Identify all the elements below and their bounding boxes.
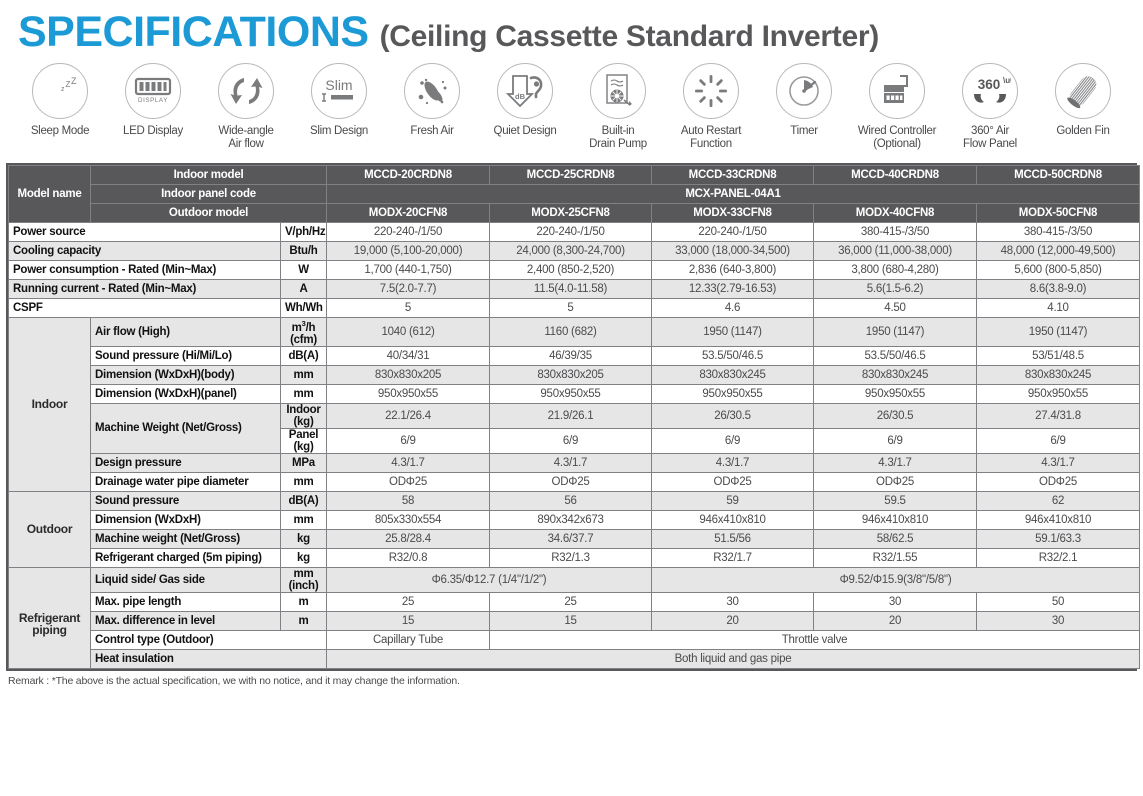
row-label: Max. pipe length [91,592,281,611]
feature-label: Wide-angleAir flow [218,125,273,150]
cell-value: 4.3/1.7 [814,453,977,472]
cell-value: R32/1.3 [490,548,652,567]
cell-value: 58 [327,491,490,510]
cell-value: 53.5/50/46.5 [814,346,977,365]
cell-value: 25.8/28.4 [327,529,490,548]
cell-value-control-right: Throttle valve [490,630,1140,649]
row-unit: Indoor (kg) [281,403,327,428]
feature-label: Golden Fin [1056,125,1109,138]
cell-value: 27.4/31.8 [977,403,1140,428]
row-label: Sound pressure (Hi/Mi/Lo) [91,346,281,365]
svg-text:Z: Z [71,76,77,86]
feature-label: 360° AirFlow Panel [963,125,1017,150]
cell-value: 46/39/35 [490,346,652,365]
cell-value: 59.1/63.3 [977,529,1140,548]
row-label: Dimension (WxDxH)(panel) [91,384,281,403]
specification-table-frame: Model name Indoor model MCCD-20CRDN8 MCC… [6,163,1137,671]
cell-value: 22.1/26.4 [327,403,490,428]
table-row-indoor-model: Model name Indoor model MCCD-20CRDN8 MCC… [9,166,1140,185]
air-flow-panel-360-icon: 360 \u00b0 [962,63,1018,119]
svg-text:\u00b0: \u00b0 [1003,76,1011,85]
cell-value: 30 [652,592,814,611]
cell-value: 830x830x205 [327,365,490,384]
table-row-liquid-gas-side: Refrigerantpiping Liquid side/ Gas side … [9,567,1140,592]
feature-fresh-air: Fresh Air [386,63,478,161]
cell-value: 3,800 (680-4,280) [814,261,977,280]
row-label: Power source [9,223,281,242]
row-unit: kg [281,529,327,548]
row-label: Dimension (WxDxH)(body) [91,365,281,384]
cell-value-control-left: Capillary Tube [327,630,490,649]
sleep-mode-icon: z Z Z [32,63,88,119]
row-label: Drainage water pipe diameter [91,472,281,491]
cell-value: 946x410x810 [977,510,1140,529]
specification-table: Model name Indoor model MCCD-20CRDN8 MCC… [8,165,1140,669]
cell-value: 7.5(2.0-7.7) [327,280,490,299]
cell-value: 5,600 (800-5,850) [977,261,1140,280]
table-row-outdoor-dimension: Dimension (WxDxH) mm 805x330x554 890x342… [9,510,1140,529]
row-unit: V/ph/Hz [281,223,327,242]
cell-value: ODΦ25 [327,472,490,491]
svg-text:Slim: Slim [325,77,352,93]
row-unit: dB(A) [281,346,327,365]
cell-value: 59 [652,491,814,510]
cell-value: 4.3/1.7 [652,453,814,472]
cell-value: R32/1.7 [652,548,814,567]
row-unit: m3/h (cfm) [281,318,327,347]
cell-value: 56 [490,491,652,510]
feature-label: Quiet Design [494,125,557,138]
cell-value: 1160 (682) [490,318,652,347]
cell-value: ODΦ25 [977,472,1140,491]
cell-value: 830x830x205 [490,365,652,384]
cell-value: 24,000 (8,300-24,700) [490,242,652,261]
cell-value: 5 [490,299,652,318]
cell-value: 2,400 (850-2,520) [490,261,652,280]
row-unit: mm [281,472,327,491]
indoor-panel-code-value: MCX-PANEL-04A1 [327,185,1140,204]
feature-label: Timer [790,125,817,138]
feature-360-air-flow-panel: 360 \u00b0 360° AirFlow Panel [944,63,1036,161]
cell-value: 21.9/26.1 [490,403,652,428]
row-label: Air flow (High) [91,318,281,347]
cell-value: 15 [327,611,490,630]
cell-value: 4.6 [652,299,814,318]
indoor-model-label: Indoor model [91,166,327,185]
feature-label: Wired Controller(Optional) [858,125,936,150]
feature-sleep-mode: z Z Z Sleep Mode [14,63,106,161]
row-label: Refrigerant charged (5m piping) [91,548,281,567]
row-unit: Wh/Wh [281,299,327,318]
cell-value: 58/62.5 [814,529,977,548]
quiet-design-icon: dB [497,63,553,119]
cell-value: 25 [490,592,652,611]
cell-value: 4.10 [977,299,1140,318]
cell-value: 12.33(2.79-16.53) [652,280,814,299]
cell-value: 4.3/1.7 [490,453,652,472]
golden-fin-icon [1055,63,1111,119]
feature-wired-controller: Wired Controller(Optional) [851,63,943,161]
cell-value: 19,000 (5,100-20,000) [327,242,490,261]
row-unit: A [281,280,327,299]
cell-value: 4.3/1.7 [977,453,1140,472]
cell-value: 220-240-/1/50 [490,223,652,242]
table-row-indoor-sound-pressure: Sound pressure (Hi/Mi/Lo) dB(A) 40/34/31… [9,346,1140,365]
cell-value: 220-240-/1/50 [652,223,814,242]
cell-value: 6/9 [490,428,652,453]
cell-value: 830x830x245 [977,365,1140,384]
svg-text:z: z [61,86,65,93]
row-label: Liquid side/ Gas side [91,567,281,592]
cell-value: 8.6(3.8-9.0) [977,280,1140,299]
cell-value: 1950 (1147) [977,318,1140,347]
indoor-model-value-1: MCCD-20CRDN8 [327,166,490,185]
cell-value: 890x342x673 [490,510,652,529]
table-row-outdoor-sound-pressure: Outdoor Sound pressure dB(A) 58 56 59 59… [9,491,1140,510]
cell-value: ODΦ25 [814,472,977,491]
feature-label: LED Display [123,125,183,138]
wide-angle-airflow-icon [218,63,274,119]
cell-value: 53/51/48.5 [977,346,1140,365]
table-row-indoor-panel-code: Indoor panel code MCX-PANEL-04A1 [9,185,1140,204]
svg-text:DISPLAY: DISPLAY [138,97,168,104]
cell-value: ODΦ25 [490,472,652,491]
cell-value: R32/1.55 [814,548,977,567]
cell-value: 1,700 (440-1,750) [327,261,490,280]
page-title-subtitle: (Ceiling Cassette Standard Inverter) [380,20,879,54]
drain-pump-icon [590,63,646,119]
row-label: CSPF [9,299,281,318]
outdoor-model-label: Outdoor model [91,204,327,223]
cell-value: 5 [327,299,490,318]
cell-value: 36,000 (11,000-38,000) [814,242,977,261]
fresh-air-icon [404,63,460,119]
feature-auto-restart-function: Auto RestartFunction [665,63,757,161]
auto-restart-icon [683,63,739,119]
feature-label: Slim Design [310,125,368,138]
row-unit: mm (inch) [281,567,327,592]
section-label-indoor: Indoor [9,318,91,492]
feature-wide-angle-air-flow: Wide-angleAir flow [200,63,292,161]
feature-built-in-drain-pump: Built-inDrain Pump [572,63,664,161]
cell-value-liquid-gas-right: Φ9.52/Φ15.9(3/8"/5/8") [652,567,1140,592]
row-label: Running current - Rated (Min~Max) [9,280,281,299]
cell-value: 40/34/31 [327,346,490,365]
cell-value: 805x330x554 [327,510,490,529]
indoor-model-value-5: MCCD-50CRDN8 [977,166,1140,185]
svg-text:360: 360 [978,77,1001,92]
cell-value: 830x830x245 [652,365,814,384]
svg-text:Z: Z [66,80,71,89]
cell-value: 4.3/1.7 [327,453,490,472]
cell-value: 33,000 (18,000-34,500) [652,242,814,261]
row-label: Max. difference in level [91,611,281,630]
cell-value: 51.5/56 [652,529,814,548]
row-unit: mm [281,510,327,529]
row-unit: m [281,592,327,611]
indoor-model-value-4: MCCD-40CRDN8 [814,166,977,185]
cell-value: 6/9 [652,428,814,453]
feature-slim-design: Slim Slim Design [293,63,385,161]
feature-led-display: DISPLAY LED Display [107,63,199,161]
cell-value: 26/30.5 [652,403,814,428]
feature-timer: Timer [758,63,850,161]
cell-value: 34.6/37.7 [490,529,652,548]
table-row-power-source: Power source V/ph/Hz 220-240-/1/50 220-2… [9,223,1140,242]
cell-value: 11.5(4.0-11.58) [490,280,652,299]
row-unit: W [281,261,327,280]
outdoor-model-value-3: MODX-33CFN8 [652,204,814,223]
section-label-refrigerant-piping: Refrigerantpiping [9,567,91,668]
cell-value: 59.5 [814,491,977,510]
cell-value: 30 [977,611,1140,630]
row-label: Cooling capacity [9,242,281,261]
specification-page: SPECIFICATIONS (Ceiling Cassette Standar… [0,0,1143,796]
indoor-model-value-3: MCCD-33CRDN8 [652,166,814,185]
table-row-outdoor-refrigerant-charged: Refrigerant charged (5m piping) kg R32/0… [9,548,1140,567]
cell-value: 6/9 [327,428,490,453]
cell-value: 25 [327,592,490,611]
cell-value: 2,836 (640-3,800) [652,261,814,280]
cell-value: 20 [814,611,977,630]
table-row-indoor-dimension-panel: Dimension (WxDxH)(panel) mm 950x950x55 9… [9,384,1140,403]
table-footnote: Remark : *The above is the actual specif… [8,675,1135,687]
cell-value: 950x950x55 [652,384,814,403]
cell-value: 380-415-/3/50 [977,223,1140,242]
cell-value: 6/9 [977,428,1140,453]
led-display-icon: DISPLAY [125,63,181,119]
cell-value: 20 [652,611,814,630]
cell-value: 950x950x55 [490,384,652,403]
cell-value: ODΦ25 [652,472,814,491]
table-row-max-difference-in-level: Max. difference in level m 15 15 20 20 3… [9,611,1140,630]
outdoor-model-value-2: MODX-25CFN8 [490,204,652,223]
cell-value: 380-415-/3/50 [814,223,977,242]
cell-value: 950x950x55 [327,384,490,403]
cell-value-liquid-gas-left: Φ6.35/Φ12.7 (1/4"/1/2") [327,567,652,592]
cell-value: 1950 (1147) [652,318,814,347]
feature-label: Sleep Mode [31,125,89,138]
feature-quiet-design: dB Quiet Design [479,63,571,161]
table-row-control-type: Control type (Outdoor) Capillary Tube Th… [9,630,1140,649]
cell-value: 50 [977,592,1140,611]
table-row-outdoor-model: Outdoor model MODX-20CFN8 MODX-25CFN8 MO… [9,204,1140,223]
table-row-running-current: Running current - Rated (Min~Max) A 7.5(… [9,280,1140,299]
row-unit: MPa [281,453,327,472]
row-label: Dimension (WxDxH) [91,510,281,529]
slim-design-icon: Slim [311,63,367,119]
row-label-machine-weight: Machine Weight (Net/Gross) [91,403,281,453]
table-row-indoor-drainage-pipe: Drainage water pipe diameter mm ODΦ25 OD… [9,472,1140,491]
row-unit: kg [281,548,327,567]
cell-value: 830x830x245 [814,365,977,384]
table-row-power-consumption: Power consumption - Rated (Min~Max) W 1,… [9,261,1140,280]
section-label-outdoor: Outdoor [9,491,91,567]
cell-value: 950x950x55 [977,384,1140,403]
table-row-heat-insulation: Heat insulation Both liquid and gas pipe [9,649,1140,668]
row-label: Machine weight (Net/Gross) [91,529,281,548]
cell-value: 946x410x810 [814,510,977,529]
cell-value: 946x410x810 [652,510,814,529]
row-label: Heat insulation [91,649,327,668]
cell-value: 62 [977,491,1140,510]
row-label: Power consumption - Rated (Min~Max) [9,261,281,280]
feature-golden-fin: Golden Fin [1037,63,1129,161]
row-unit: mm [281,365,327,384]
row-label: Sound pressure [91,491,281,510]
cell-value: R32/0.8 [327,548,490,567]
page-title: SPECIFICATIONS (Ceiling Cassette Standar… [0,0,1143,57]
cell-value: 6/9 [814,428,977,453]
outdoor-model-value-4: MODX-40CFN8 [814,204,977,223]
row-unit: dB(A) [281,491,327,510]
cell-value: 1040 (612) [327,318,490,347]
table-row-cspf: CSPF Wh/Wh 5 5 4.6 4.50 4.10 [9,299,1140,318]
cell-value-heat-insulation: Both liquid and gas pipe [327,649,1140,668]
cell-value: 15 [490,611,652,630]
row-label: Control type (Outdoor) [91,630,327,649]
cell-value: 5.6(1.5-6.2) [814,280,977,299]
cell-value: 1950 (1147) [814,318,977,347]
feature-icon-strip: z Z Z Sleep Mode DISPLAY LED Disp [0,57,1143,161]
table-row-cooling-capacity: Cooling capacity Btu/h 19,000 (5,100-20,… [9,242,1140,261]
model-name-label: Model name [9,166,91,223]
cell-value: 4.50 [814,299,977,318]
row-unit: m [281,611,327,630]
feature-label: Fresh Air [410,125,453,138]
cell-value: R32/2.1 [977,548,1140,567]
feature-label: Auto RestartFunction [681,125,741,150]
cell-value: 950x950x55 [814,384,977,403]
svg-text:dB: dB [515,92,526,101]
table-row-outdoor-machine-weight: Machine weight (Net/Gross) kg 25.8/28.4 … [9,529,1140,548]
timer-icon [776,63,832,119]
table-row-indoor-air-flow: Indoor Air flow (High) m3/h (cfm) 1040 (… [9,318,1140,347]
feature-label: Built-inDrain Pump [589,125,647,150]
row-unit: Btu/h [281,242,327,261]
indoor-model-value-2: MCCD-25CRDN8 [490,166,652,185]
cell-value: 53.5/50/46.5 [652,346,814,365]
indoor-panel-code-label: Indoor panel code [91,185,327,204]
table-row-max-pipe-length: Max. pipe length m 25 25 30 30 50 [9,592,1140,611]
row-unit: mm [281,384,327,403]
outdoor-model-value-5: MODX-50CFN8 [977,204,1140,223]
wired-controller-icon [869,63,925,119]
outdoor-model-value-1: MODX-20CFN8 [327,204,490,223]
table-row-indoor-design-pressure: Design pressure MPa 4.3/1.7 4.3/1.7 4.3/… [9,453,1140,472]
cell-value: 48,000 (12,000-49,500) [977,242,1140,261]
cell-value: 26/30.5 [814,403,977,428]
table-row-indoor-dimension-body: Dimension (WxDxH)(body) mm 830x830x205 8… [9,365,1140,384]
row-unit: Panel (kg) [281,428,327,453]
cell-value: 220-240-/1/50 [327,223,490,242]
row-label: Design pressure [91,453,281,472]
cell-value: 30 [814,592,977,611]
table-row-indoor-machine-weight-indoor: Machine Weight (Net/Gross) Indoor (kg) 2… [9,403,1140,428]
page-title-main: SPECIFICATIONS [18,8,369,57]
